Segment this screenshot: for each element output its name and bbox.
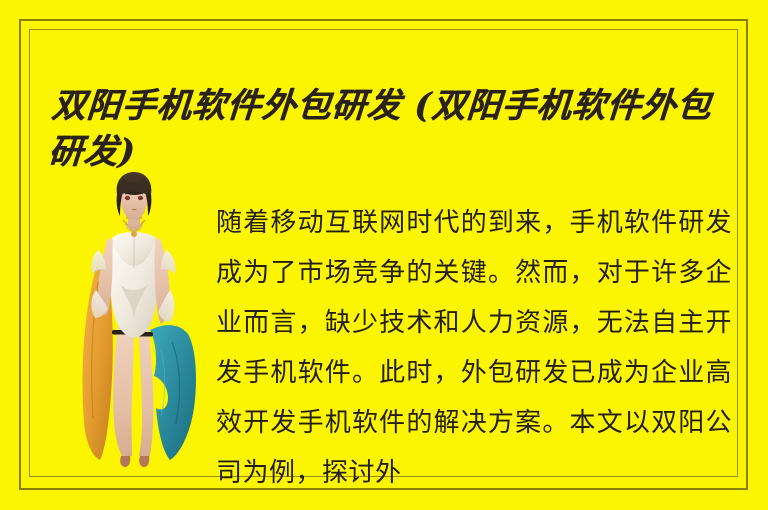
- shoe-left: [120, 456, 130, 467]
- page-title: 双阳手机软件外包研发 (双阳手机软件外包研发): [47, 83, 743, 175]
- illustration-figure: [62, 172, 207, 467]
- shoe-right: [139, 456, 149, 467]
- poster-canvas: 双阳手机软件外包研发 (双阳手机软件外包研发): [0, 0, 768, 510]
- eye-left: [125, 196, 130, 200]
- article-body: 随着移动互联网时代的到来，手机软件研发成为了市场竞争的关键。然而，对于许多企业而…: [216, 198, 732, 498]
- eye-right: [138, 196, 143, 200]
- legs: [113, 326, 134, 456]
